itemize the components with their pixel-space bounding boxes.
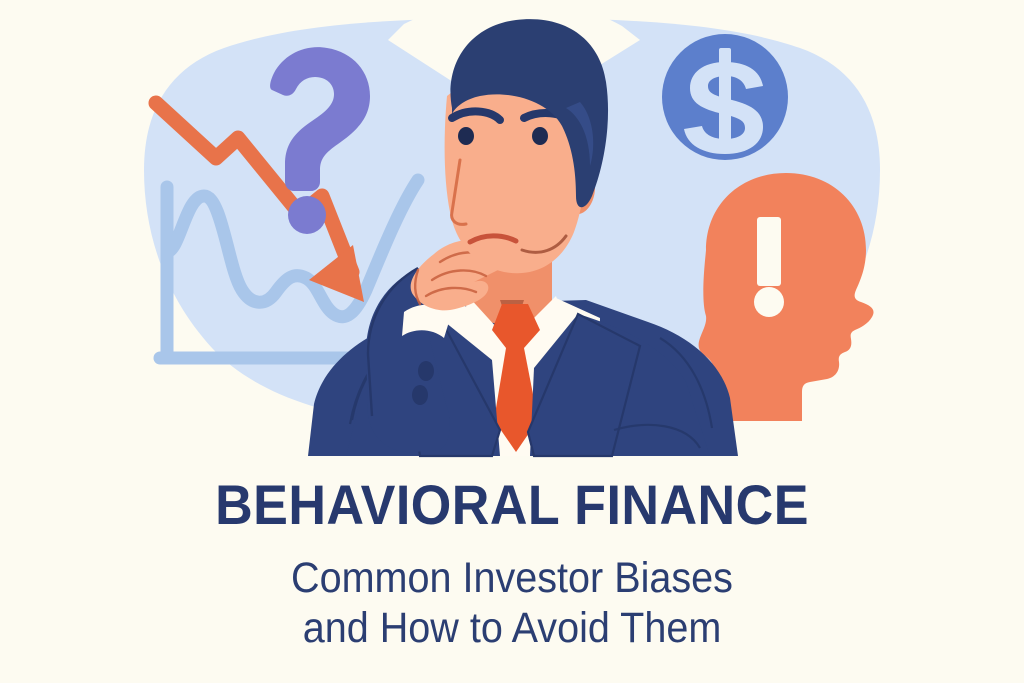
cuff-button-top (418, 361, 434, 381)
illustration-artwork (0, 0, 1024, 683)
exclamation-glyph (754, 217, 784, 317)
eye-left (458, 127, 474, 145)
dollar-coin-badge (662, 34, 788, 160)
cuff-button-bottom (412, 385, 428, 405)
eye-right (532, 127, 548, 145)
poster-canvas: BEHAVIORAL FINANCE Common Investor Biase… (0, 0, 1024, 683)
